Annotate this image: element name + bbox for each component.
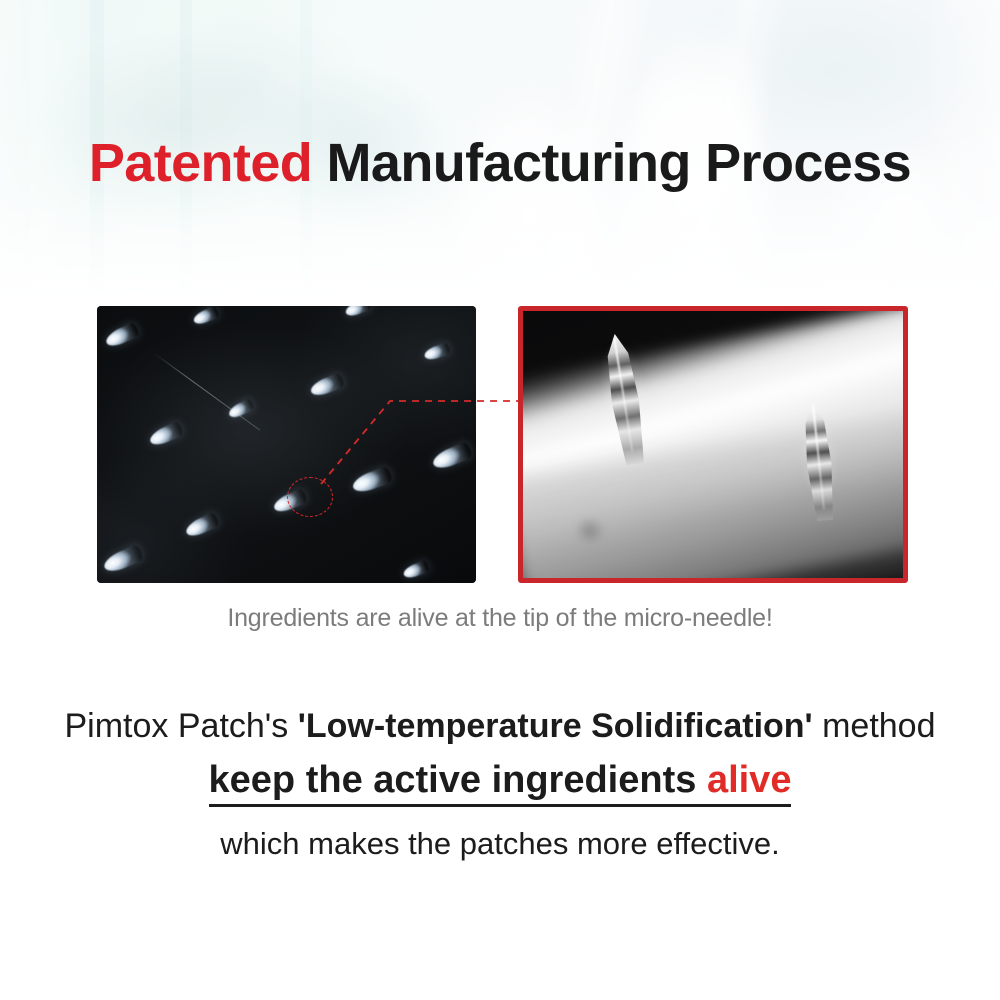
magnified-micro-needle (595, 331, 655, 468)
body-copy-line-3: which makes the patches more effective. (0, 825, 1000, 862)
body-copy-line2-accent: alive (707, 759, 792, 801)
page-title-rest: Manufacturing Process (312, 133, 911, 193)
body-copy: Pimtox Patch's 'Low-temperature Solidifi… (0, 706, 1000, 862)
skin-pore (575, 518, 605, 544)
body-copy-line-1: Pimtox Patch's 'Low-temperature Solidifi… (0, 706, 1000, 746)
page-title: Patented Manufacturing Process (0, 134, 1000, 192)
figure-caption: Ingredients are alive at the tip of the … (0, 604, 1000, 633)
magnified-micro-needle (795, 401, 843, 522)
promotional-infographic-page: Patented Manufacturing Process (0, 0, 1000, 1000)
micrograph-needle-array (97, 306, 476, 583)
body-copy-line1-suffix: method (813, 707, 936, 745)
figure-panels (0, 306, 1000, 584)
body-copy-line1-strong: 'Low-temperature Solidification' (298, 707, 813, 745)
needle-highlight-ellipse (287, 477, 333, 517)
body-copy-line2-underlined: keep the active ingredients alive (209, 759, 792, 807)
body-copy-line1-prefix: Pimtox Patch's (65, 707, 298, 745)
page-title-accent: Patented (89, 133, 312, 193)
micrograph-magnified-needles (518, 306, 908, 583)
body-copy-line-2: keep the active ingredients alive (0, 758, 1000, 803)
body-copy-line2-plain: keep the active ingredients (209, 759, 707, 801)
